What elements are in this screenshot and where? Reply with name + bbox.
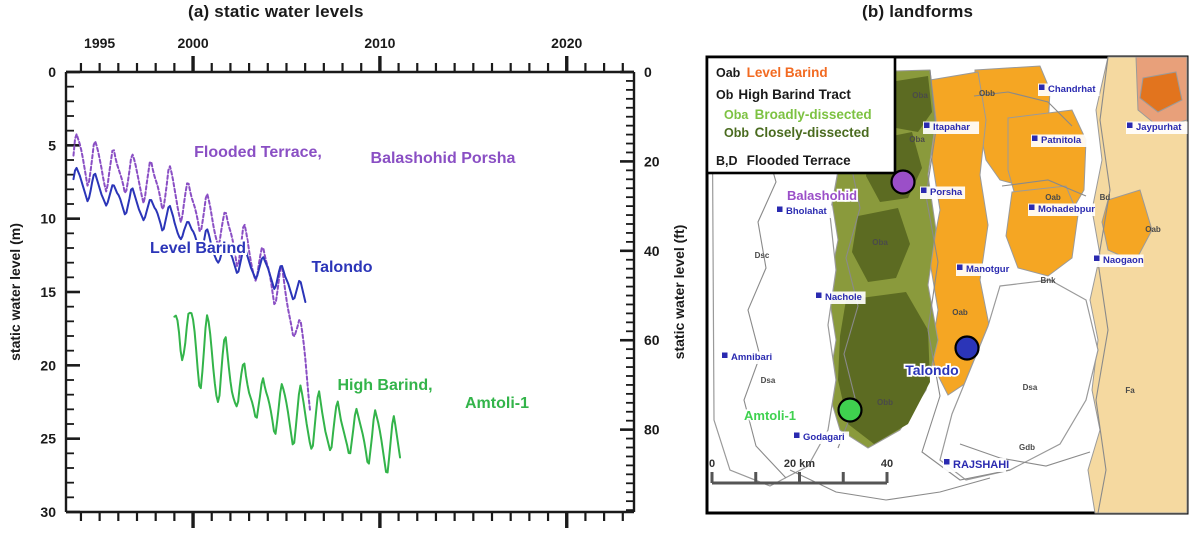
flooded-terrace-label: Flooded Terrace, — [194, 144, 322, 161]
x-tick-label-2010: 2010 — [364, 35, 395, 51]
x-axis-bottom-ticks — [81, 512, 623, 528]
place-rajshahi: RAJSHAHI — [943, 458, 1009, 472]
legend-label-2: Broadly-dissected — [755, 107, 872, 122]
place-godagari: Godagari — [793, 432, 849, 445]
y-right-tick-40: 40 — [644, 243, 660, 259]
unit-oba-w: Oba — [909, 135, 925, 144]
y-left-tick-30: 30 — [40, 504, 56, 520]
level-barind-label: Level Barind — [150, 240, 246, 257]
place-porsha: Porsha — [920, 187, 965, 200]
unit-oab-ne: Oab — [1045, 193, 1061, 202]
place-label-text: Patnitola — [1041, 135, 1082, 146]
y-axis-right-label: static water level (ft) — [671, 225, 687, 360]
y-left-tick-0: 0 — [48, 64, 56, 80]
unit-obb-s: Obb — [877, 398, 893, 407]
series-line-0 — [73, 134, 310, 410]
place-marker-icon — [1039, 85, 1045, 91]
place-label-text: Mohadebpur — [1038, 204, 1095, 215]
unit-oab-e: Oab — [1145, 225, 1161, 234]
well-marker-icon — [839, 399, 862, 422]
unit-obb-n: Obb — [979, 89, 995, 98]
unit-bnk: Bnk — [1040, 276, 1056, 285]
place-label-text: Naogaon — [1103, 255, 1144, 266]
legend-code-2: Oba — [724, 108, 749, 122]
place-label-text: Jaypurhat — [1136, 122, 1182, 133]
place-label-text: Itapahar — [933, 122, 970, 133]
place-marker-icon — [957, 265, 963, 271]
place-manotgur: Manotgur — [956, 264, 1012, 277]
map-legend-group: OabLevel BarindObHigh Barind TractObaBro… — [707, 57, 895, 173]
y-right-tick-20: 20 — [644, 153, 660, 169]
series-annotations: Flooded Terrace,Flooded Terrace,Balashoh… — [150, 144, 529, 412]
place-patnitola: Patnitola — [1031, 135, 1093, 148]
panel-b-landforms: OabLevel BarindObHigh Barind TractObaBro… — [700, 0, 1194, 545]
y-axis-right-tick-labels: 020406080 — [644, 64, 660, 438]
balashohid-porsha-label: Balashohid Porsha — [371, 150, 516, 167]
well-label-text: Amtoli-1 — [744, 408, 796, 423]
talondo-label: Talondo — [311, 259, 372, 276]
legend-code-1: Ob — [716, 88, 734, 102]
place-naogaon: Naogaon — [1093, 255, 1144, 268]
x-tick-label-1995: 1995 — [84, 35, 115, 51]
place-label-text: Chandrhat — [1048, 84, 1096, 95]
unit-dsc: Dsc — [755, 251, 770, 260]
scale-bar-label-2: 40 — [881, 458, 893, 470]
place-bholahat: Bholahat — [776, 206, 832, 219]
unit-fa: Fa — [1125, 386, 1135, 395]
place-marker-icon — [944, 459, 950, 465]
place-label-text: Manotgur — [966, 264, 1010, 275]
place-label-text: Porsha — [930, 187, 963, 198]
timeseries-chart: 1995200020102020 051015202530 020406080 … — [0, 0, 700, 545]
place-nachole: Nachole — [815, 292, 866, 305]
place-marker-icon — [921, 188, 927, 194]
legend-code-4: B,D — [716, 154, 738, 168]
unit-gdb: Gdb — [1019, 443, 1035, 452]
y-right-tick-0: 0 — [644, 64, 652, 80]
place-marker-icon — [924, 123, 930, 129]
place-jaypahat: Jaypurhat — [1126, 122, 1188, 135]
y-axis-left-label: static water level (m) — [7, 223, 23, 361]
legend-item-oba: ObaBroadly-dissected — [724, 107, 872, 122]
legend-label-0: Level Barind — [747, 65, 828, 80]
panel-a-static-water-levels: 1995200020102020 051015202530 020406080 … — [0, 0, 700, 545]
amtoli-1-label: Amtoli-1 — [465, 395, 529, 412]
y-right-tick-60: 60 — [644, 332, 660, 348]
y-left-tick-10: 10 — [40, 211, 56, 227]
y-axis-left-tick-labels: 051015202530 — [40, 64, 56, 520]
scale-bar-label-1: 20 km — [784, 458, 815, 470]
legend-code-0: Oab — [716, 66, 741, 80]
landform-map: OabLevel BarindObHigh Barind TractObaBro… — [700, 0, 1194, 545]
unit-dsa2: Dsa — [1023, 383, 1038, 392]
x-axis-top-ticks — [81, 56, 623, 72]
place-mohadebpur: Mohadebpur — [1028, 204, 1095, 217]
high-barind-label: High Barind, — [337, 377, 432, 394]
place-marker-icon — [794, 433, 800, 439]
legend-label-4: Flooded Terrace — [747, 153, 852, 168]
legend-item-oab: OabLevel Barind — [716, 65, 828, 80]
place-itapahar: Itapahar — [923, 122, 979, 135]
x-axis-tick-labels: 1995200020102020 — [84, 35, 582, 51]
place-marker-icon — [777, 207, 783, 213]
place-label-text: Amnibari — [731, 352, 772, 363]
place-label-text: Godagari — [803, 432, 845, 443]
legend-label-3: Closely-dissected — [755, 125, 870, 140]
well-label-text: Talondo — [905, 362, 958, 378]
legend-code-3: Obb — [724, 126, 749, 140]
legend-item-b-d: B,DFlooded Terrace — [716, 153, 851, 168]
well-marker-icon — [892, 171, 915, 194]
x-tick-label-2000: 2000 — [177, 35, 208, 51]
place-label-text: Nachole — [825, 292, 862, 303]
data-series-group — [73, 134, 400, 472]
y-left-tick-25: 25 — [40, 431, 56, 447]
place-amnibari: Amnibari — [721, 352, 777, 365]
plot-frame — [66, 72, 634, 512]
x-tick-label-2020: 2020 — [551, 35, 582, 51]
unit-oab-c: Oab — [952, 308, 968, 317]
unit-dsa: Dsa — [761, 376, 776, 385]
place-marker-icon — [722, 353, 728, 359]
figure-root: (a) static water levels (b) landforms 19… — [0, 0, 1194, 545]
place-marker-icon — [1127, 123, 1133, 129]
scale-bar-label-0: 0 — [709, 458, 715, 470]
unit-oba-c: Oba — [872, 238, 888, 247]
place-marker-icon — [1032, 136, 1038, 142]
unit-oba-n: Oba — [912, 91, 928, 100]
place-marker-icon — [816, 293, 822, 299]
place-label-text: Bholahat — [786, 206, 827, 217]
place-label-text: RAJSHAHI — [953, 459, 1009, 471]
y-right-tick-80: 80 — [644, 422, 660, 438]
legend-label-1: High Barind Tract — [738, 87, 851, 102]
place-marker-icon — [1029, 205, 1035, 211]
y-left-tick-20: 20 — [40, 357, 56, 373]
y-left-tick-15: 15 — [40, 284, 56, 300]
well-marker-icon — [956, 337, 979, 360]
y-left-tick-5: 5 — [48, 137, 56, 153]
well-label-text: Balashohid — [787, 188, 857, 203]
unit-bd-e: Bd — [1100, 193, 1111, 202]
place-marker-icon — [1094, 256, 1100, 262]
legend-item-obb: ObbClosely-dissected — [724, 125, 869, 140]
y-axis-right-ticks — [620, 72, 634, 510]
place-chandrhat: Chandrhat — [1038, 84, 1100, 97]
